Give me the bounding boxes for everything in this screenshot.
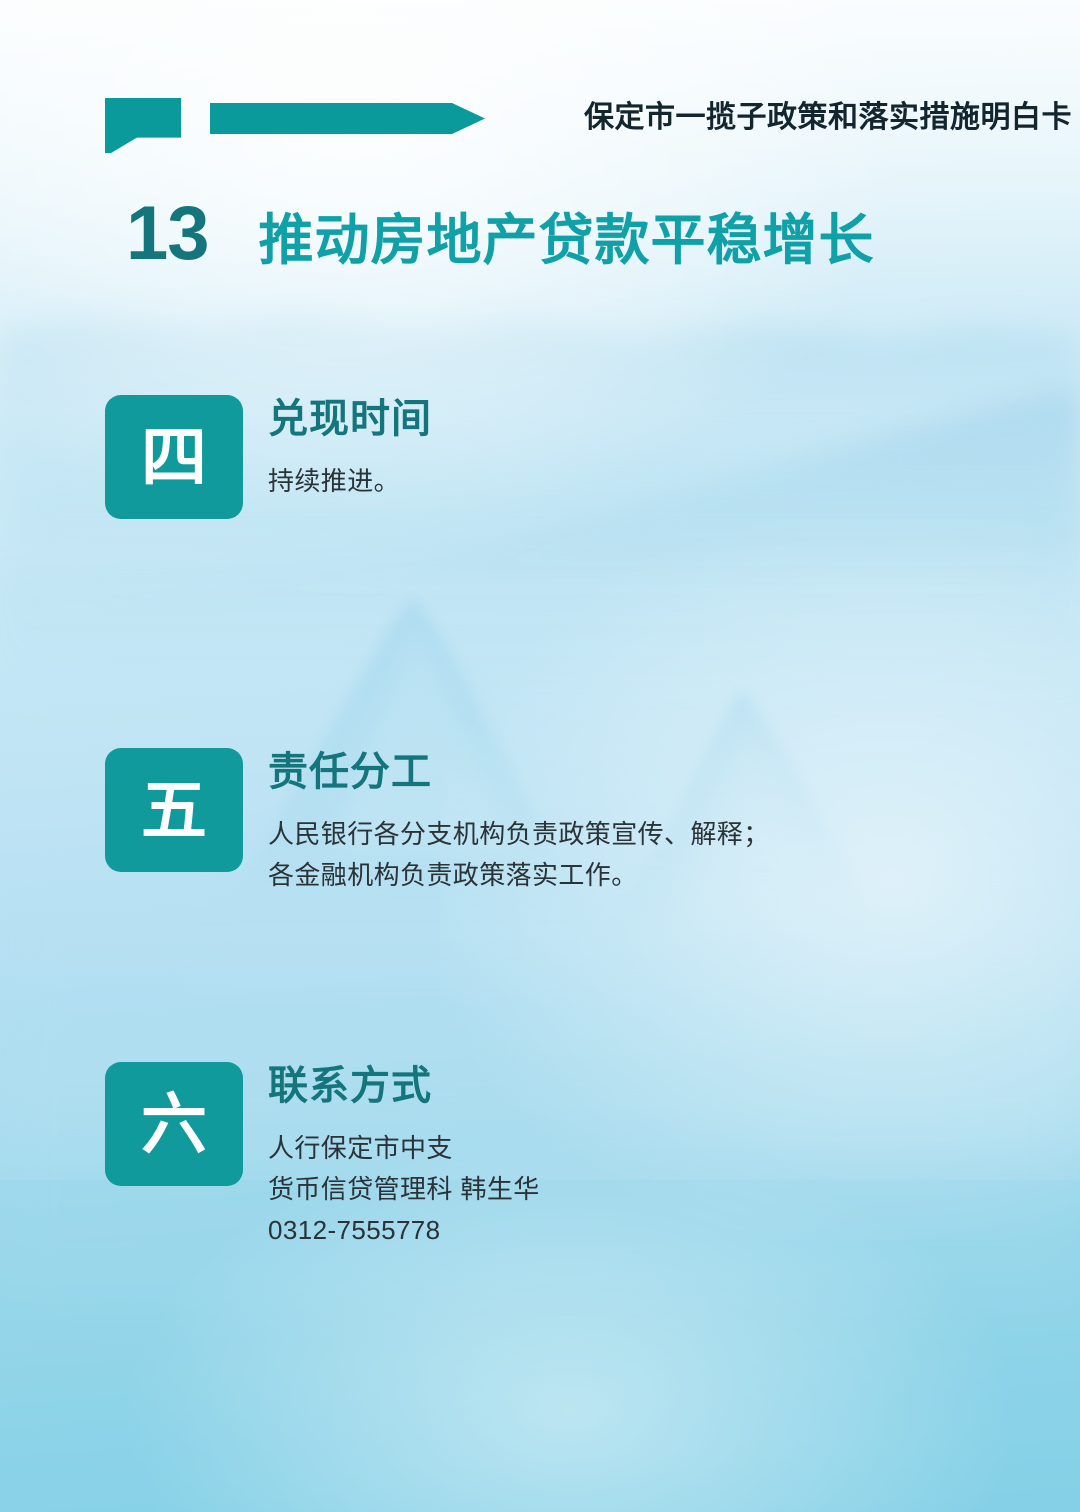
section-five-badge: 五 [105, 748, 243, 872]
page-title-number: 13 [126, 196, 209, 272]
flag-mark-icon [105, 98, 181, 153]
section-four-heading: 兑现时间 [268, 399, 1028, 439]
section-six-body: 联系方式 人行保定市中支 货币信贷管理科 韩生华 0312-7555778 [268, 1066, 1028, 1251]
section-six-badge: 六 [105, 1062, 243, 1186]
section-four-body: 兑现时间 持续推进。 [268, 399, 1028, 502]
page-title: 13 推动房地产贷款平稳增长 [126, 196, 875, 272]
section-five-body: 责任分工 人民银行各分支机构负责政策宣传、解释； 各金融机构负责政策落实工作。 [268, 752, 1028, 896]
section-five-heading: 责任分工 [268, 752, 1028, 792]
page-title-text: 推动房地产贷款平稳增长 [259, 213, 875, 268]
section-six-heading: 联系方式 [268, 1066, 1028, 1106]
section-four-badge: 四 [105, 395, 243, 519]
section-six-line-1: 人行保定市中支 [268, 1128, 1028, 1169]
section-five-line-1: 人民银行各分支机构负责政策宣传、解释； [268, 814, 1028, 855]
header-title: 保定市一揽子政策和落实措施明白卡 [584, 96, 1072, 140]
page-header: 保定市一揽子政策和落实措施明白卡 [0, 96, 1080, 158]
section-six-line-2: 货币信贷管理科 韩生华 [268, 1169, 1028, 1210]
section-six-line-3: 0312-7555778 [268, 1210, 1028, 1251]
poster-page: 保定市一揽子政策和落实措施明白卡 13 推动房地产贷款平稳增长 四 兑现时间 持… [0, 0, 1080, 1512]
section-five-line-2: 各金融机构负责政策落实工作。 [268, 855, 1028, 896]
section-four-line-1: 持续推进。 [268, 461, 1028, 502]
arrow-bar-icon [210, 103, 485, 134]
